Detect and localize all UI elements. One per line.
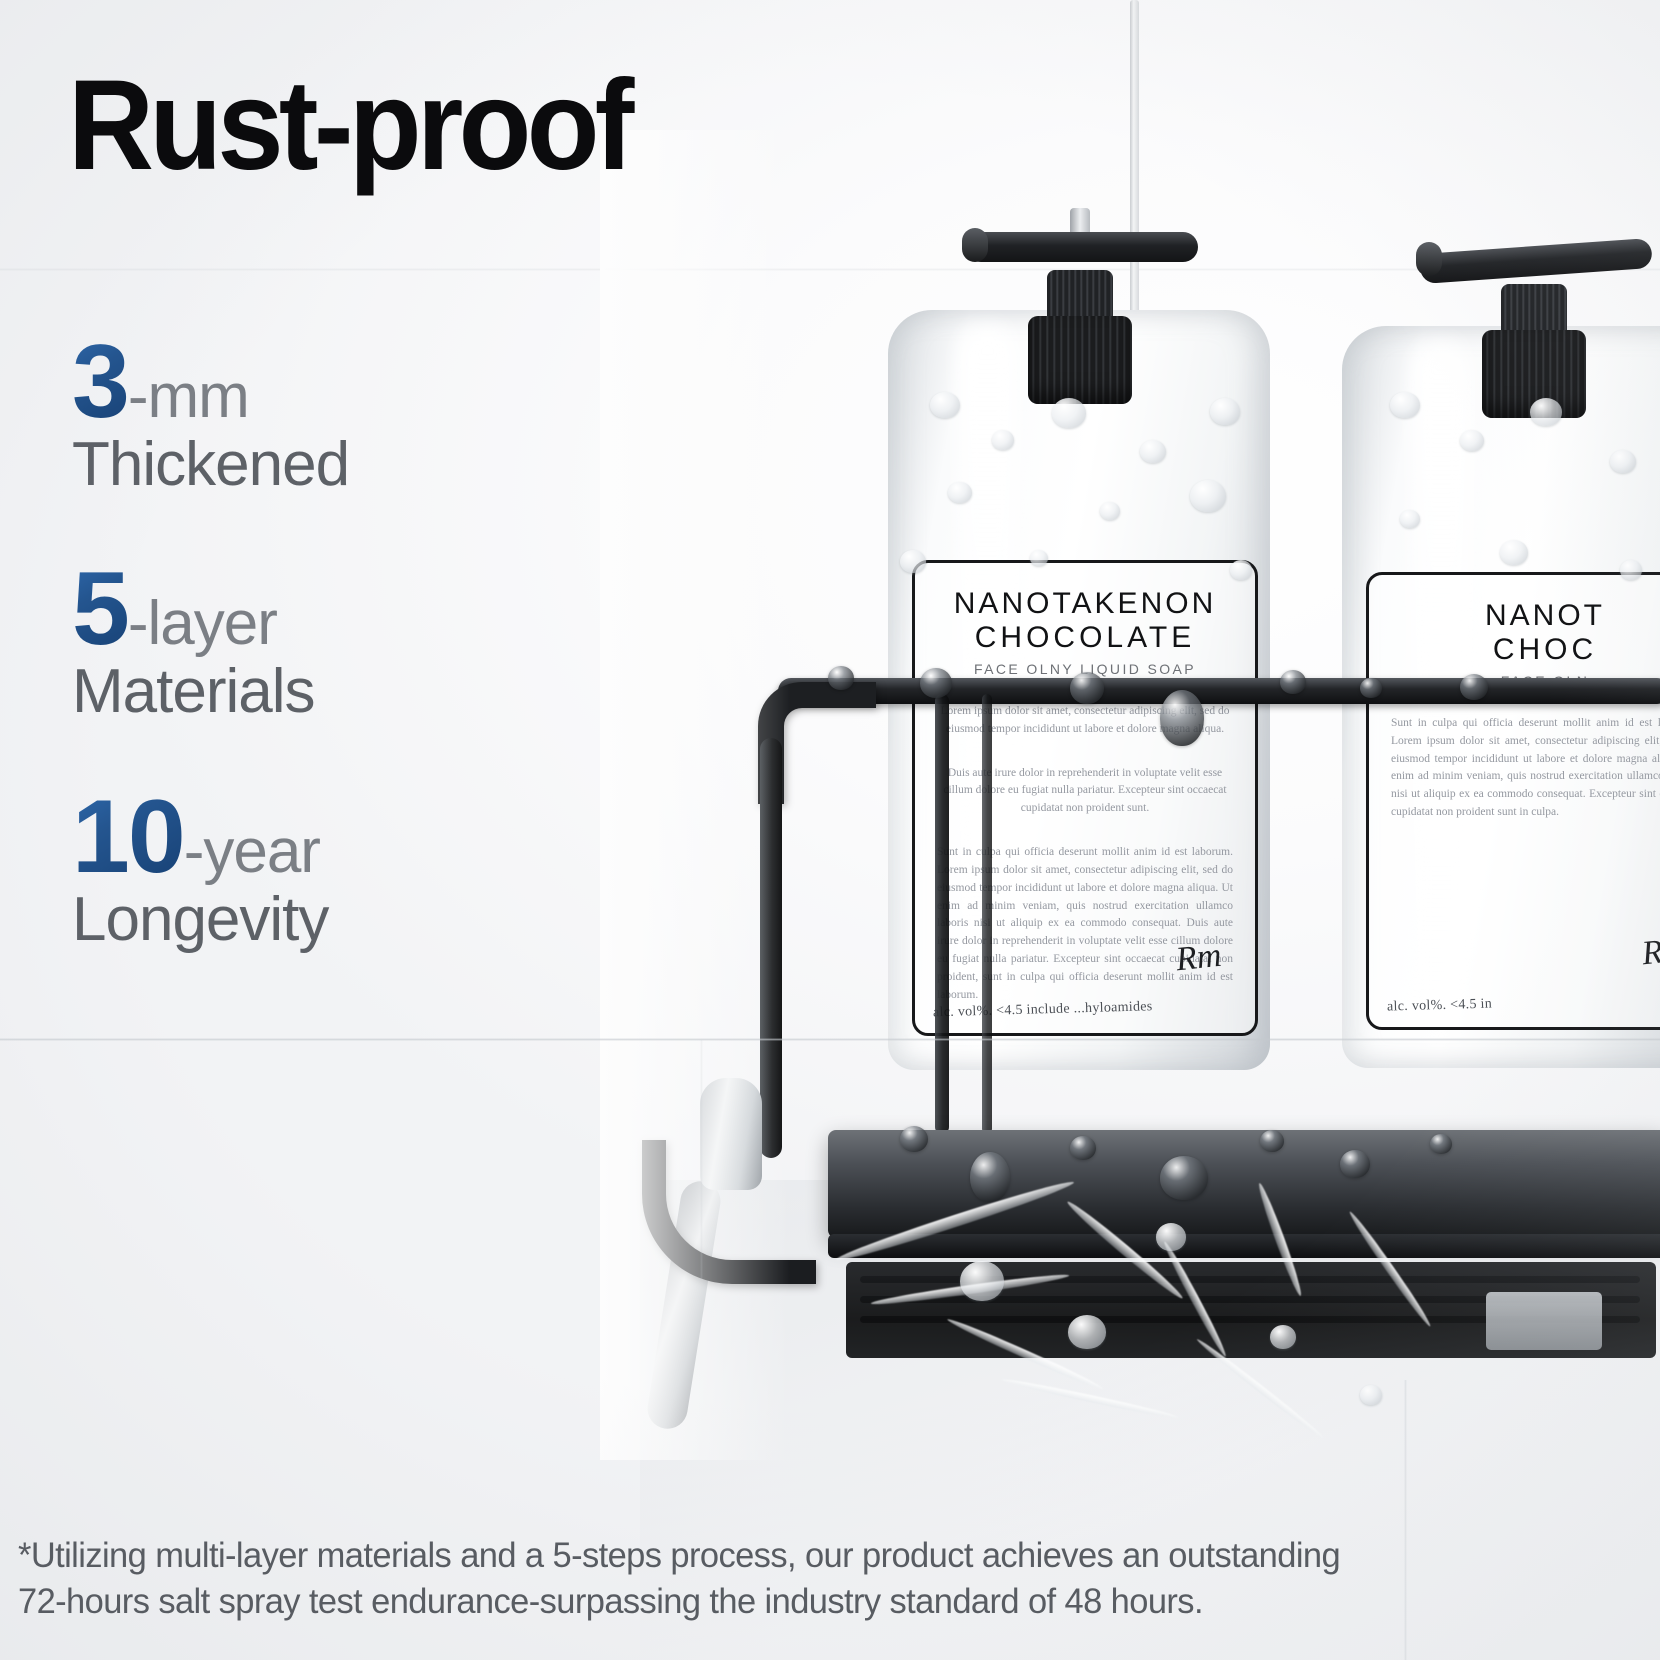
stat-item-thickness: 3-mm Thickened xyxy=(72,330,632,499)
footnote-line-2: 72-hours salt spray test endurance-surpa… xyxy=(18,1579,1618,1626)
stat-number: 5 xyxy=(72,551,128,667)
stat-label: Materials xyxy=(72,657,632,726)
footnote: *Utilizing multi-layer materials and a 5… xyxy=(18,1533,1618,1626)
stat-item-layers: 5-layer Materials xyxy=(72,557,632,726)
stat-label: Longevity xyxy=(72,885,632,954)
stat-unit: -mm xyxy=(128,362,249,431)
footnote-line-1: *Utilizing multi-layer materials and a 5… xyxy=(18,1533,1618,1580)
grout-line-horizontal-main xyxy=(0,1038,1660,1041)
stat-number: 10 xyxy=(72,779,184,895)
stat-unit: -year xyxy=(184,817,320,886)
stat-number: 3 xyxy=(72,324,128,440)
stat-item-longevity: 10-year Longevity xyxy=(72,785,632,954)
stat-label: Thickened xyxy=(72,430,632,499)
page-title: Rust-proof xyxy=(68,62,630,190)
stat-unit: -layer xyxy=(128,589,277,658)
feature-stats-list: 3-mm Thickened 5-layer Materials 10-year… xyxy=(72,330,632,954)
infographic-canvas: NANOT CHOC FACE OLN Sunt in culpa qui of… xyxy=(0,0,1660,1660)
stat-headline: 10-year xyxy=(72,785,632,889)
grout-line-vertical-lower-left xyxy=(700,1040,703,1280)
stat-headline: 5-layer xyxy=(72,557,632,661)
stat-headline: 3-mm xyxy=(72,330,632,434)
